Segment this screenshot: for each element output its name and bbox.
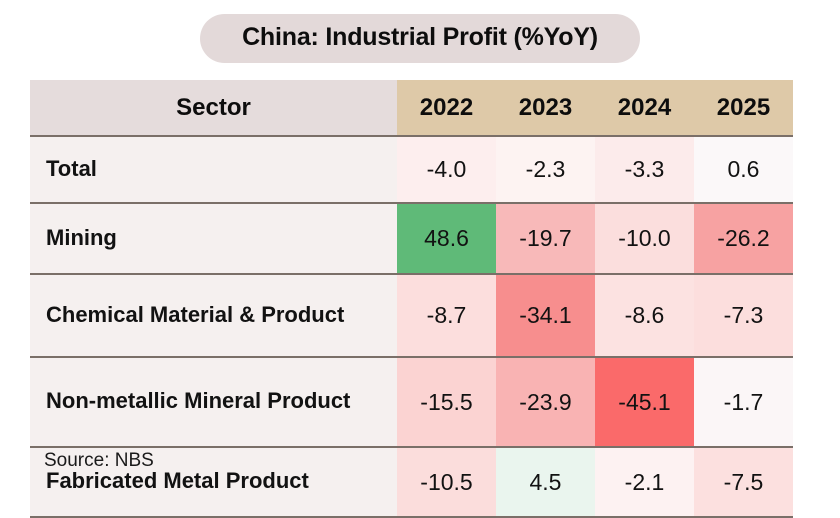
table-row: Chemical Material & Product -8.7 -34.1 -… <box>30 274 793 357</box>
row-label-total: Total <box>30 136 397 203</box>
cell-fabricated-2023: 4.5 <box>496 447 595 517</box>
chart-title-container: China: Industrial Profit (%YoY) <box>0 14 840 63</box>
table-row: Non-metallic Mineral Product -15.5 -23.9… <box>30 357 793 447</box>
cell-mining-2023: -19.7 <box>496 203 595 274</box>
cell-total-2023: -2.3 <box>496 136 595 203</box>
source-note: Source: NBS <box>44 450 154 472</box>
cell-nonmetallic-2024: -45.1 <box>595 357 694 447</box>
table-row: Total -4.0 -2.3 -3.3 0.6 <box>30 136 793 203</box>
table-row: Mining 48.6 -19.7 -10.0 -26.2 <box>30 203 793 274</box>
column-header-sector: Sector <box>30 80 397 136</box>
row-label-chemical-material-product: Chemical Material & Product <box>30 274 397 357</box>
cell-nonmetallic-2025: -1.7 <box>694 357 793 447</box>
cell-mining-2022: 48.6 <box>397 203 496 274</box>
column-header-2023: 2023 <box>496 80 595 136</box>
page-title: China: Industrial Profit (%YoY) <box>200 14 640 63</box>
cell-total-2024: -3.3 <box>595 136 694 203</box>
cell-mining-2024: -10.0 <box>595 203 694 274</box>
column-header-2025: 2025 <box>694 80 793 136</box>
cell-nonmetallic-2022: -15.5 <box>397 357 496 447</box>
row-label-mining: Mining <box>30 203 397 274</box>
cell-nonmetallic-2023: -23.9 <box>496 357 595 447</box>
cell-fabricated-2025: -7.5 <box>694 447 793 517</box>
cell-total-2022: -4.0 <box>397 136 496 203</box>
table-header-row: Sector 2022 2023 2024 2025 <box>30 80 793 136</box>
cell-chemical-2024: -8.6 <box>595 274 694 357</box>
cell-chemical-2023: -34.1 <box>496 274 595 357</box>
table-header: Sector 2022 2023 2024 2025 <box>30 80 793 136</box>
row-label-non-metallic-mineral-product: Non-metallic Mineral Product <box>30 357 397 447</box>
cell-total-2025: 0.6 <box>694 136 793 203</box>
column-header-2024: 2024 <box>595 80 694 136</box>
column-header-2022: 2022 <box>397 80 496 136</box>
cell-chemical-2022: -8.7 <box>397 274 496 357</box>
cell-mining-2025: -26.2 <box>694 203 793 274</box>
cell-fabricated-2022: -10.5 <box>397 447 496 517</box>
cell-fabricated-2024: -2.1 <box>595 447 694 517</box>
cell-chemical-2025: -7.3 <box>694 274 793 357</box>
